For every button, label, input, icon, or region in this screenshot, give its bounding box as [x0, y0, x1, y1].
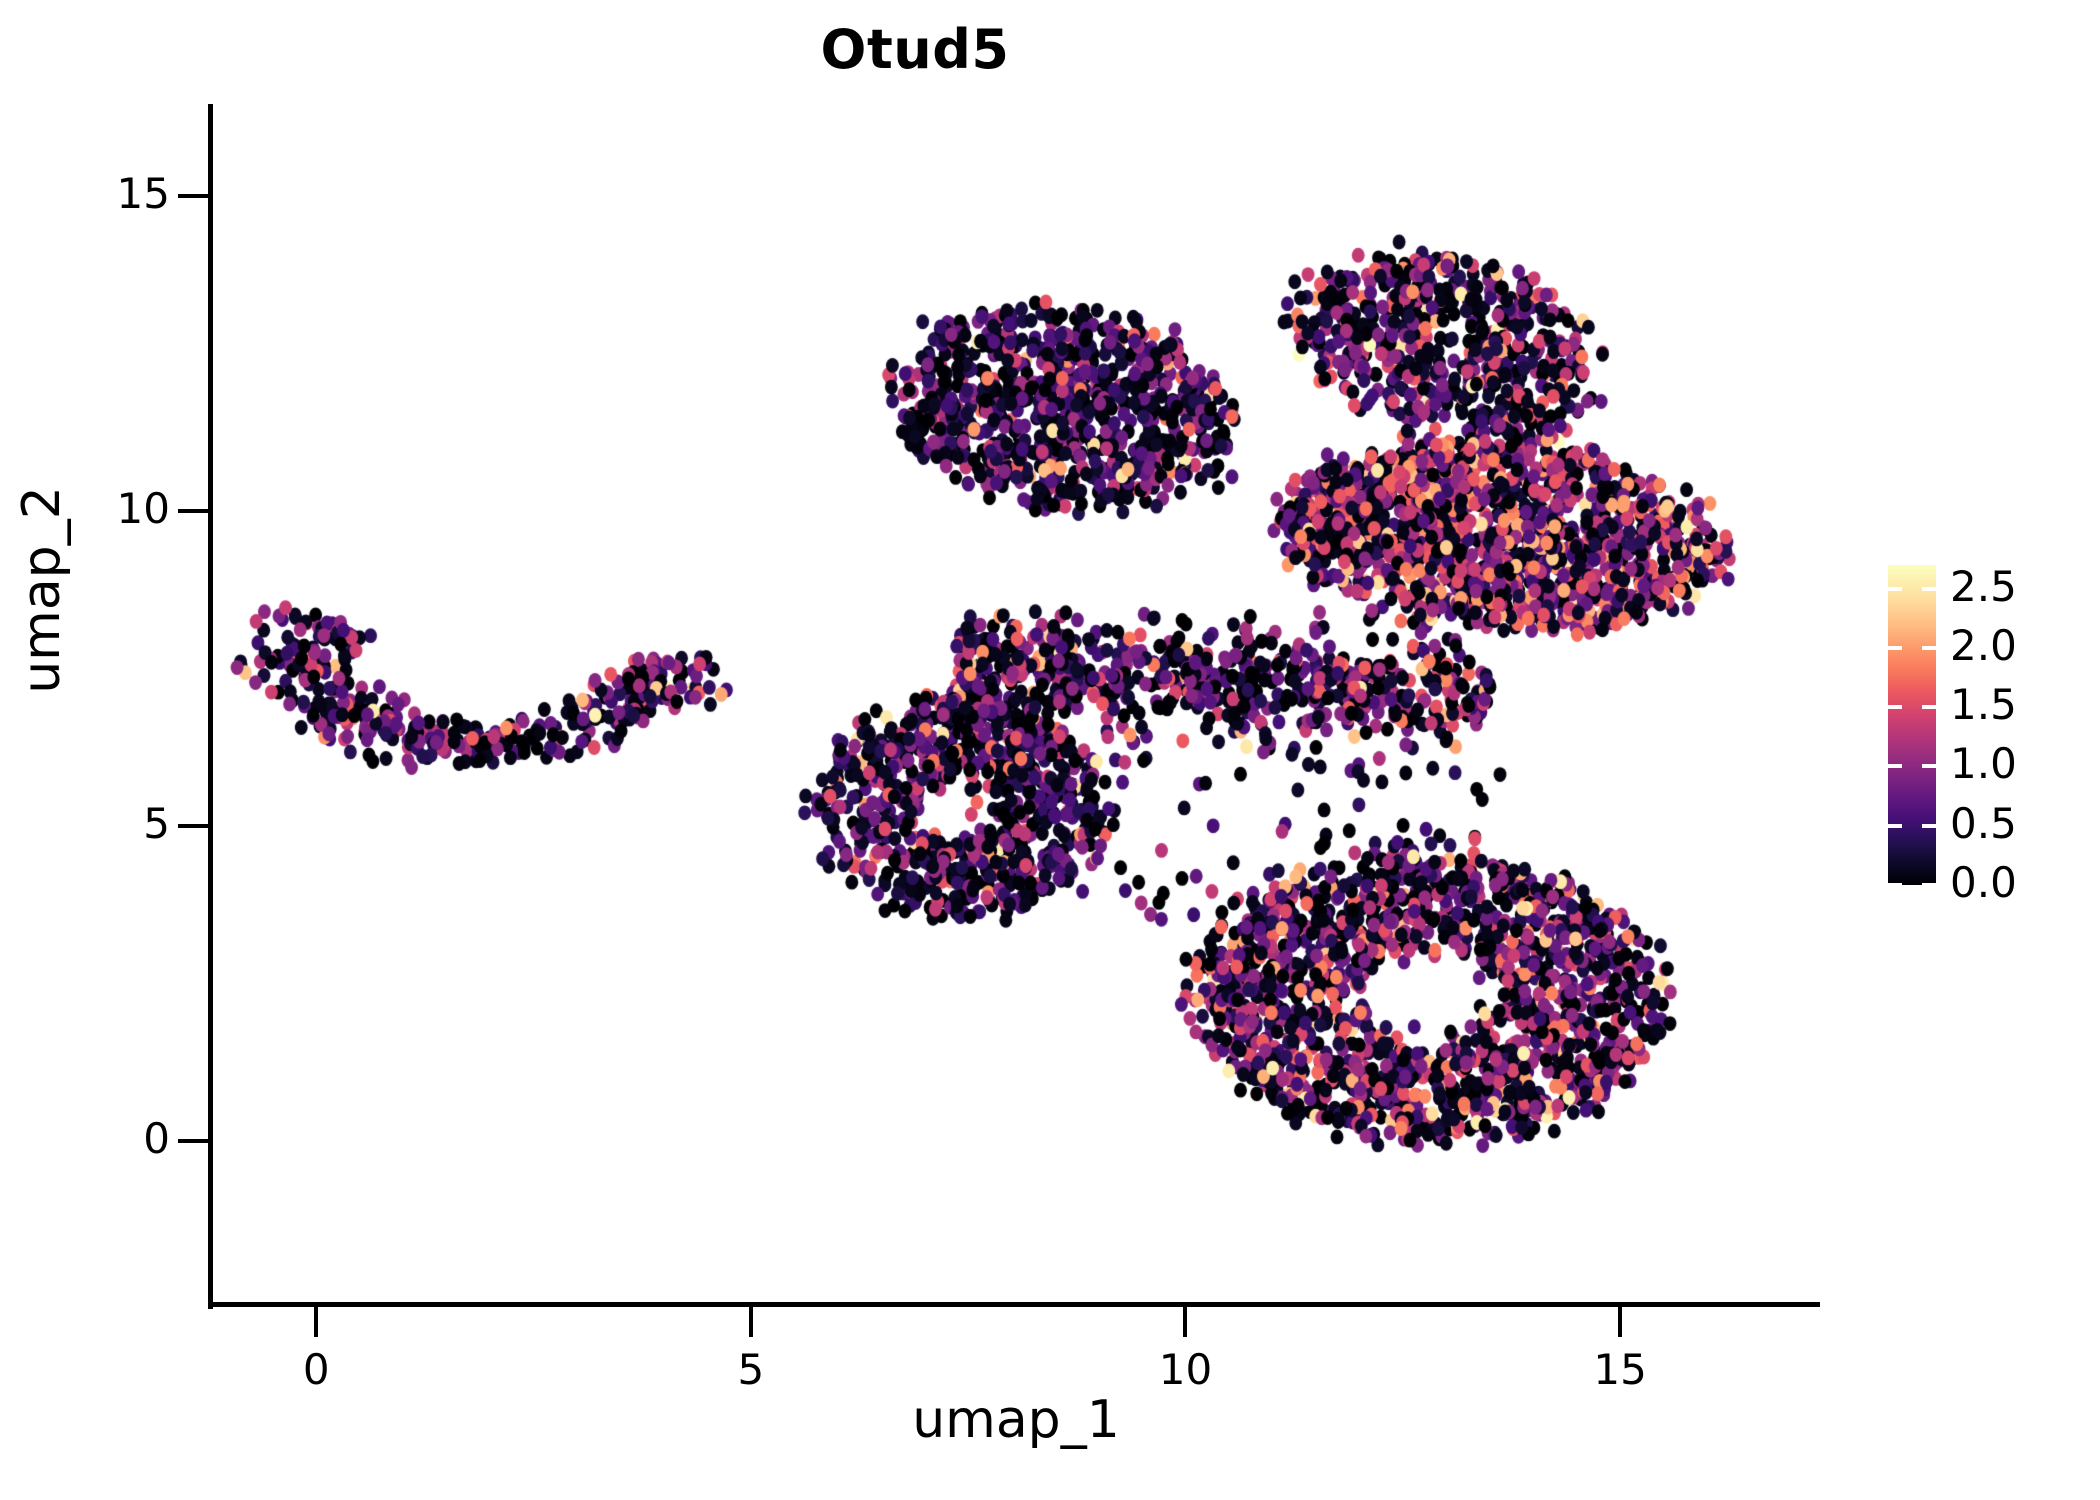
x-tick-mark — [749, 1307, 753, 1337]
colorbar-tick-label: 2.5 — [1950, 562, 2017, 611]
colorbar-tick-mark — [1922, 824, 1936, 828]
colorbar-tick-mark — [1922, 764, 1936, 768]
y-tick-mark — [178, 824, 210, 828]
figure-canvas: Otud5 151050 051015 umap_2 umap_1 2.52.0… — [0, 0, 2100, 1500]
colorbar: 2.52.01.51.00.50.0 — [1888, 565, 2088, 895]
colorbar-tick-mark — [1922, 705, 1936, 709]
colorbar-tick-mark — [1888, 824, 1902, 828]
y-tick-label: 5 — [40, 799, 170, 848]
y-tick-mark — [178, 194, 210, 198]
colorbar-tick-mark — [1888, 646, 1902, 650]
x-tick-mark — [1183, 1307, 1187, 1337]
y-tick-mark — [178, 1139, 210, 1143]
colorbar-tick-mark — [1888, 764, 1902, 768]
colorbar-tick-label: 1.5 — [1950, 680, 2017, 729]
y-tick-mark — [178, 509, 210, 513]
x-tick-mark — [1618, 1307, 1622, 1337]
colorbar-tick-mark — [1888, 883, 1902, 887]
x-tick-mark — [314, 1307, 318, 1337]
y-axis-label: umap_2 — [12, 380, 72, 800]
colorbar-tick-mark — [1888, 587, 1902, 591]
x-axis-label: umap_1 — [212, 1390, 1820, 1450]
colorbar-tick-mark — [1922, 646, 1936, 650]
colorbar-tick-label: 0.5 — [1950, 799, 2017, 848]
y-tick-label: 0 — [40, 1114, 170, 1163]
x-tick-label: 0 — [246, 1345, 386, 1394]
colorbar-tick-mark — [1922, 587, 1936, 591]
colorbar-tick-label: 2.0 — [1950, 621, 2017, 670]
colorbar-tick-mark — [1888, 705, 1902, 709]
colorbar-tick-label: 1.0 — [1950, 739, 2017, 788]
x-tick-label: 15 — [1550, 1345, 1690, 1394]
x-tick-label: 5 — [681, 1345, 821, 1394]
colorbar-tick-mark — [1922, 883, 1936, 887]
scatter-points-layer — [0, 0, 2100, 1500]
x-tick-label: 10 — [1115, 1345, 1255, 1394]
y-tick-label: 15 — [40, 169, 170, 218]
colorbar-tick-label: 0.0 — [1950, 858, 2017, 907]
colorbar-gradient — [1888, 565, 1936, 885]
